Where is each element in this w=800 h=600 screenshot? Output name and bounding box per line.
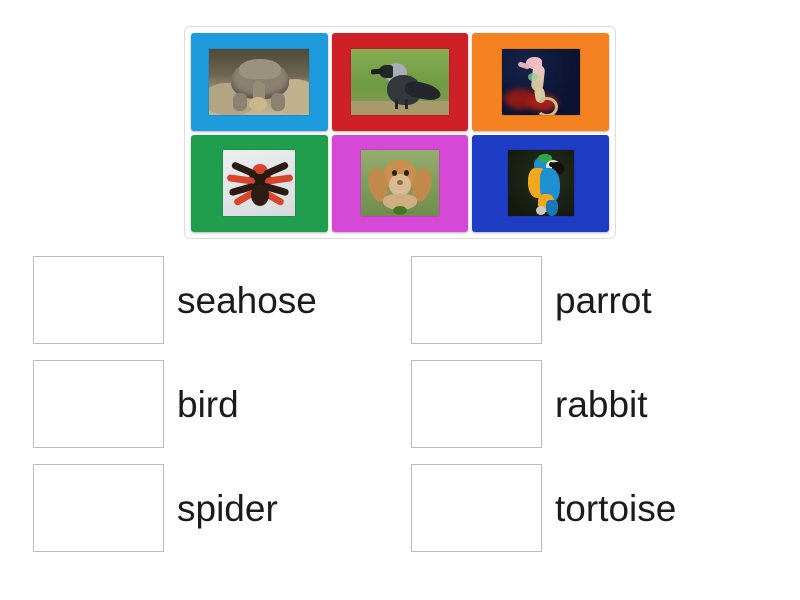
draggable-tile-tortoise[interactable] xyxy=(191,33,328,131)
macaw-photo xyxy=(508,150,574,216)
jackdaw-photo xyxy=(351,49,449,115)
answer-row-rabbit: rabbit xyxy=(411,360,789,448)
answer-label-rabbit: rabbit xyxy=(555,386,648,423)
rabbit-photo xyxy=(361,150,439,216)
draggable-tile-spider[interactable] xyxy=(191,135,328,233)
answer-row-parrot: parrot xyxy=(411,256,789,344)
dropzone-rabbit[interactable] xyxy=(411,360,542,448)
answer-row-tortoise: tortoise xyxy=(411,464,789,552)
answer-label-bird: bird xyxy=(177,386,239,423)
answer-row-spider: spider xyxy=(33,464,411,552)
draggable-tile-bird[interactable] xyxy=(332,33,469,131)
draggable-tile-seahorse[interactable] xyxy=(472,33,609,131)
dropzone-tortoise[interactable] xyxy=(411,464,542,552)
image-tray xyxy=(184,26,616,239)
tarantula-photo xyxy=(223,150,295,216)
draggable-tile-parrot[interactable] xyxy=(472,135,609,233)
answer-grid: seahose parrot bird rabbit spider tortoi… xyxy=(0,256,800,552)
answer-row-seahose: seahose xyxy=(33,256,411,344)
answer-label-tortoise: tortoise xyxy=(555,490,676,527)
answer-label-parrot: parrot xyxy=(555,282,652,319)
answer-label-spider: spider xyxy=(177,490,278,527)
dropzone-seahose[interactable] xyxy=(33,256,164,344)
draggable-tile-rabbit[interactable] xyxy=(332,135,469,233)
seahorse-photo xyxy=(502,49,580,115)
dropzone-spider[interactable] xyxy=(33,464,164,552)
dropzone-bird[interactable] xyxy=(33,360,164,448)
dropzone-parrot[interactable] xyxy=(411,256,542,344)
answer-row-bird: bird xyxy=(33,360,411,448)
tortoise-photo xyxy=(209,49,309,115)
answer-label-seahose: seahose xyxy=(177,282,317,319)
